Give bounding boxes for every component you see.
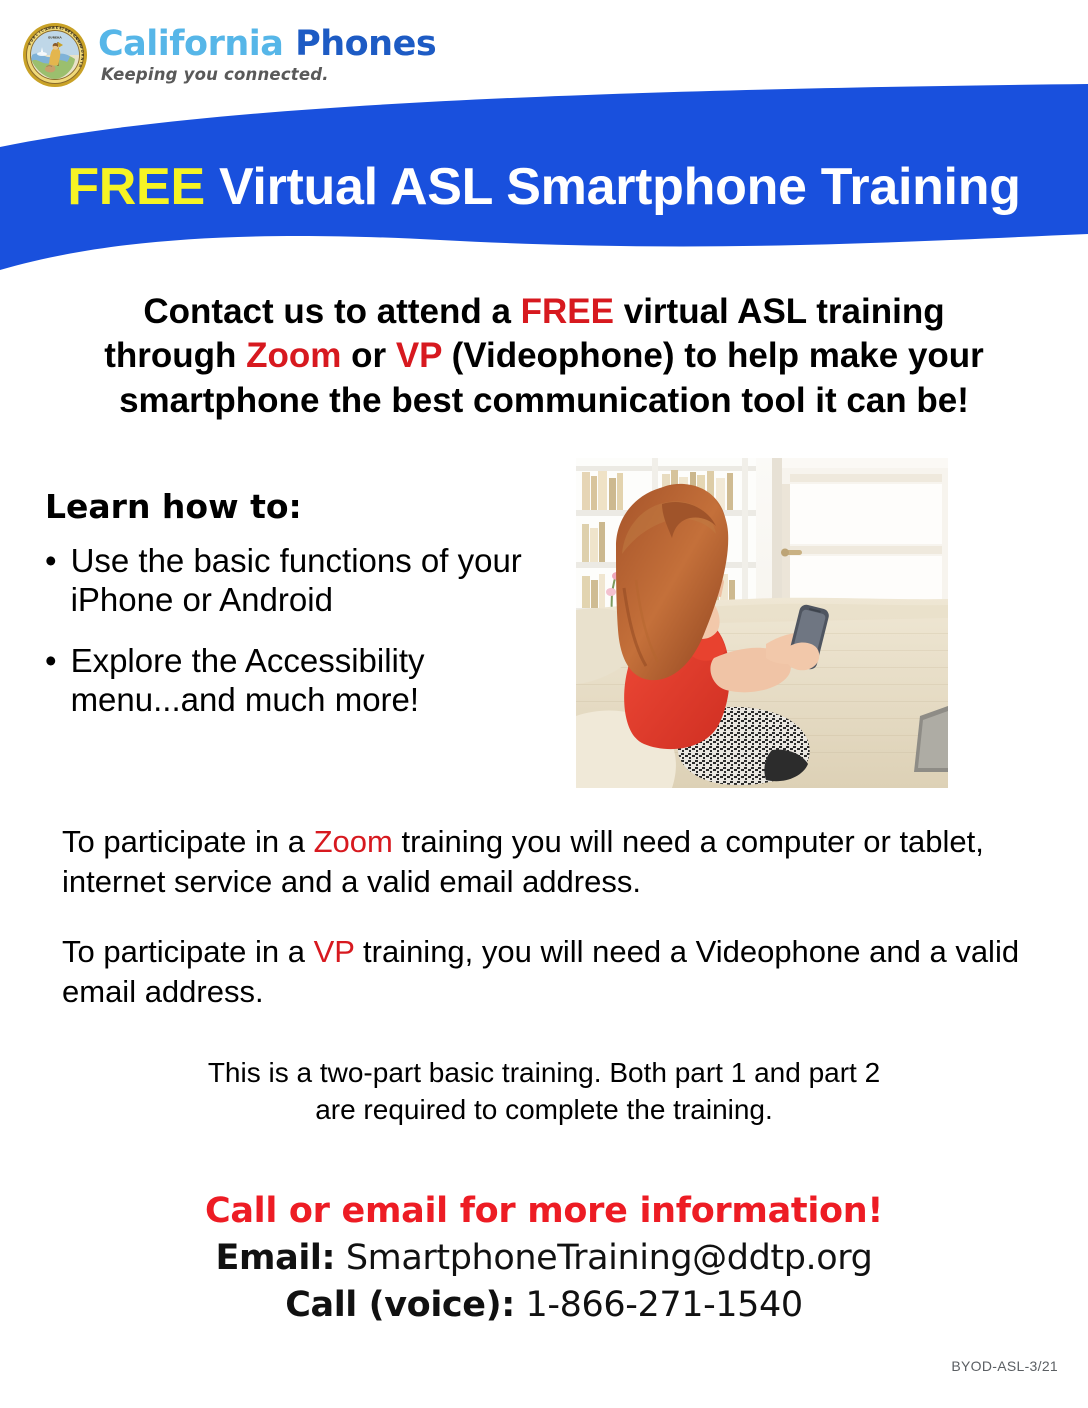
brand-name: California Phones [98,27,436,62]
brand-tagline: Keeping you connected. [101,67,436,84]
svg-text:EUREKA: EUREKA [48,36,62,40]
svg-text:O: O [80,49,84,53]
brand-name-phones: Phones [295,24,436,64]
contact-phone-value[interactable]: 1-866-271-1540 [526,1285,803,1325]
contact-block: Call or email for more information! Emai… [44,1190,1044,1328]
bullet-dot-icon: • [45,642,57,681]
contact-email-line: Email: SmartphoneTraining@ddtp.org [44,1237,1044,1281]
note-line-2: are required to complete the training. [94,1092,994,1129]
list-item: • Use the basic functions of your iPhone… [45,542,565,620]
vp-keyword: VP [314,934,355,969]
zoom-para-a: To participate in a [62,824,314,859]
learn-bullet-list: • Use the basic functions of your iPhone… [45,542,565,720]
lead-zoom-keyword: Zoom [246,336,341,375]
lead-l1a: Contact us to attend a [143,292,520,331]
contact-email-value[interactable]: SmartphoneTraining@ddtp.org [346,1238,873,1278]
lead-l1b: virtual ASL training [614,292,945,331]
two-part-training-note: This is a two-part basic training. Both … [94,1055,994,1129]
contact-phone-label: Call (voice): [285,1285,515,1325]
vp-para-a: To participate in a [62,934,314,969]
cpuc-seal-icon: P U B L I C U T I L I T I E S C O [22,22,88,88]
brand-name-california: California [98,24,283,64]
contact-phone-line: Call (voice): 1-866-271-1540 [44,1284,1044,1328]
lead-line-1: Contact us to attend a FREE virtual ASL … [40,290,1048,334]
contact-cta: Call or email for more information! [44,1190,1044,1233]
blue-wave-banner [0,84,1088,292]
vp-requirements-paragraph: To participate in a VP training, you wil… [62,932,1052,1013]
lead-line-2: through Zoom or VP (Videophone) to help … [40,334,1048,378]
zoom-requirements-paragraph: To participate in a Zoom training you wi… [62,822,1052,903]
learn-bullet-text: Use the basic functions of your iPhone o… [71,542,565,620]
learn-bullet-text: Explore the Accessibility menu...and muc… [71,642,565,720]
lead-free-keyword: FREE [521,292,614,331]
bullet-dot-icon: • [45,542,57,581]
lead-paragraph: Contact us to attend a FREE virtual ASL … [40,290,1048,423]
learn-how-to-heading: Learn how to: [45,487,565,526]
lead-l2c: (Videophone) to help make your [442,336,984,375]
learn-how-to-block: Learn how to: • Use the basic functions … [45,487,565,742]
svg-text:N: N [80,57,84,61]
brand-header: P U B L I C U T I L I T I E S C O [22,22,436,88]
list-item: • Explore the Accessibility menu...and m… [45,642,565,720]
lead-line-3: smartphone the best communication tool i… [40,379,1048,423]
brand-wordmark: California Phones Keeping you connected. [98,27,436,84]
flyer-page: P U B L I C U T I L I T I E S C O [0,0,1088,1408]
lead-l2b: or [341,336,395,375]
photo-asl-woman-smartphone [576,458,948,788]
contact-email-label: Email: [216,1238,336,1278]
lead-l2a: through [104,336,246,375]
zoom-keyword: Zoom [314,824,393,859]
document-code: BYOD-ASL-3/21 [951,1358,1058,1374]
lead-vp-keyword: VP [396,336,442,375]
note-line-1: This is a two-part basic training. Both … [94,1055,994,1092]
